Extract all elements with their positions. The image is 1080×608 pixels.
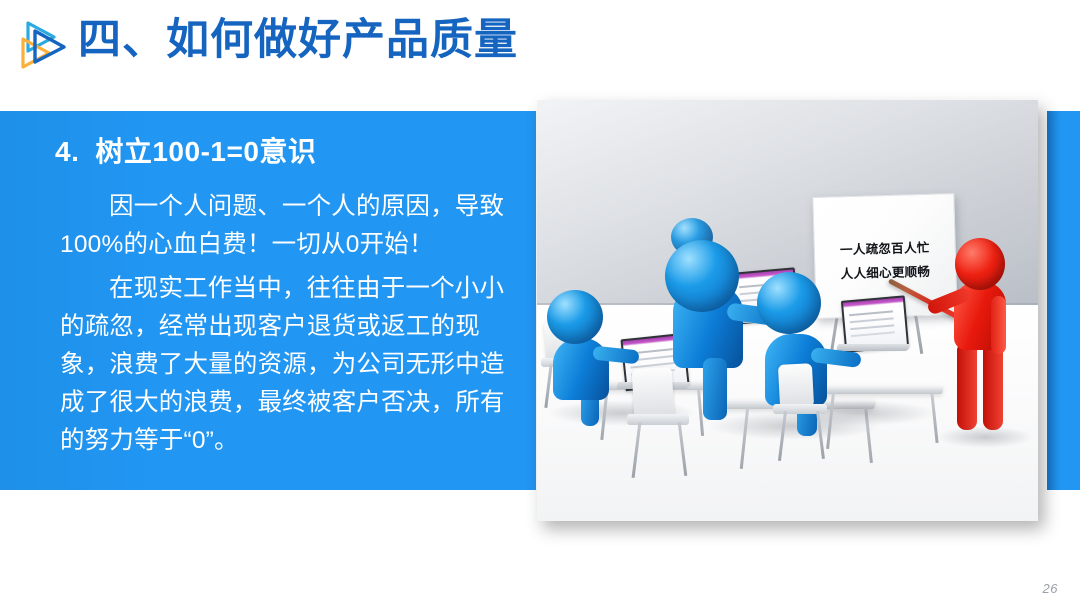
right-accent-strip — [1047, 111, 1080, 490]
triple-play-triangle-logo — [14, 17, 70, 73]
student-2-leg — [703, 358, 727, 420]
panel-body: 因一个人问题、一个人的原因，导致100%的心血白费！一切从0开始！ 在现实工作当… — [60, 188, 510, 466]
page-number: 26 — [1043, 581, 1058, 596]
whiteboard-line-1: 一人疏忽百人忙 — [815, 236, 955, 259]
training-photo: 一人疏忽百人忙 人人细心更顺畅 — [537, 100, 1038, 521]
instructor-shadow — [937, 426, 1033, 448]
panel-paragraph-2: 在现实工作当中，往往由于一个小小的疏忽，经常出现客户退货或返工的现象，浪费了大量… — [60, 270, 510, 460]
instructor-leg-left — [957, 344, 977, 430]
page-title: 四、如何做好产品质量 — [78, 9, 518, 71]
panel-paragraph-1: 因一个人问题、一个人的原因，导致100%的心血白费！一切从0开始！ — [60, 188, 510, 264]
instructor-head — [955, 238, 1005, 290]
student-3-head — [757, 272, 821, 334]
instructor-figure — [935, 238, 1031, 438]
slide-root: 四、如何做好产品质量 4.树立100-1=0意识 因一个人问题、一个人的原因，导… — [0, 0, 1080, 608]
instructor-arm-lowered — [991, 296, 1006, 354]
student-2-chair-back — [632, 367, 675, 419]
student-3-chair-back — [778, 363, 814, 409]
training-photo-canvas: 一人疏忽百人忙 人人细心更顺畅 — [537, 100, 1038, 521]
panel-heading-text: 树立100-1=0意识 — [95, 136, 316, 167]
student-2-head — [665, 240, 739, 312]
panel-heading: 4.树立100-1=0意识 — [55, 130, 316, 170]
slide-header: 四、如何做好产品质量 — [0, 0, 1080, 92]
panel-heading-number: 4. — [55, 136, 79, 167]
instructor-leg-right — [983, 344, 1003, 430]
student-1-head — [547, 290, 603, 344]
